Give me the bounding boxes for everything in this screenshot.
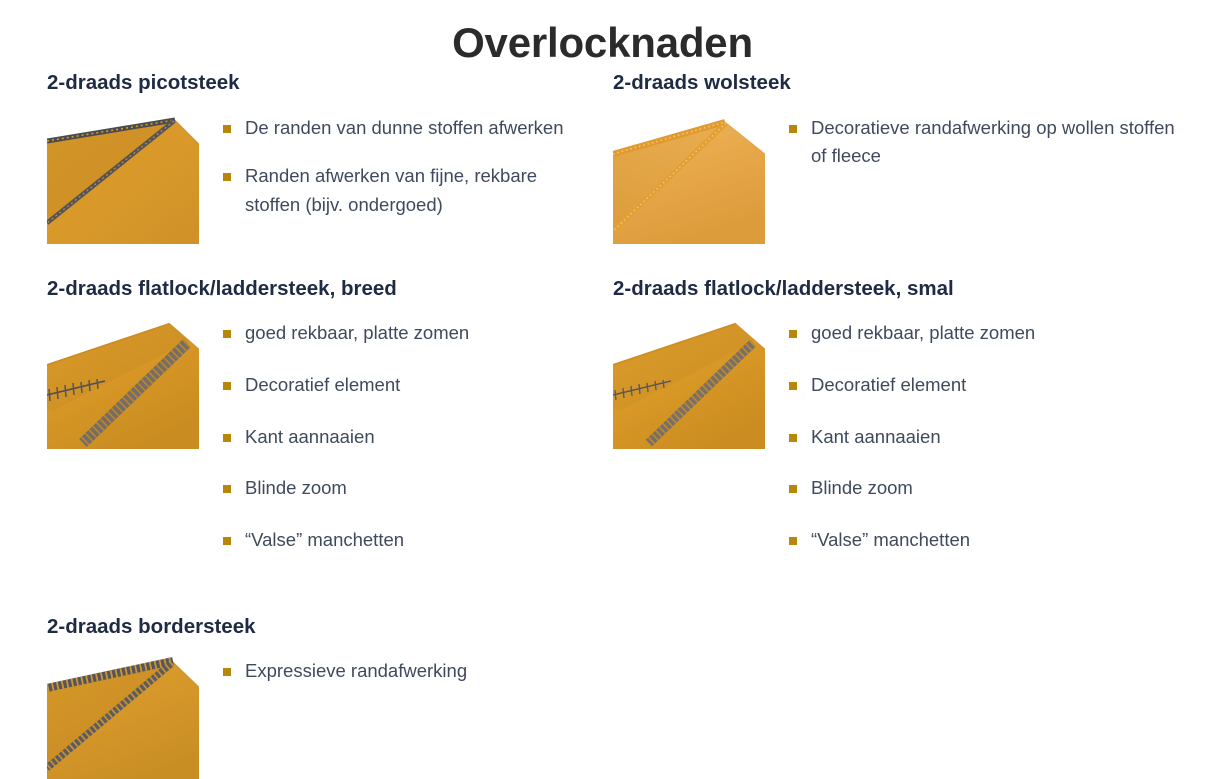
section-body: De randen van dunne stoffen afwerken Ran… xyxy=(47,114,588,244)
list-item: Blinde zoom xyxy=(223,474,588,503)
list-item: Blinde zoom xyxy=(789,474,1190,503)
flatlock-wide-sample-image xyxy=(47,319,199,449)
flatlock-narrow-sample-image xyxy=(613,319,765,449)
section-heading: 2-draads flatlock/laddersteek, smal xyxy=(613,276,1190,302)
section-empty-slot xyxy=(602,614,1204,779)
list-item: Expressieve randafwerking xyxy=(223,657,588,686)
bullet-list: Decoratieve randafwerking op wollen stof… xyxy=(765,114,1190,171)
section-heading: 2-draads picotsteek xyxy=(47,70,588,96)
section-heading: 2-draads wolsteek xyxy=(613,70,1190,96)
section-wolsteek: 2-draads wolsteek xyxy=(602,70,1204,276)
list-item: Randen afwerken van fijne, rekbare stoff… xyxy=(223,162,588,219)
list-item: Decoratief element xyxy=(223,371,588,400)
section-body: Expressieve randafwerking xyxy=(47,657,588,779)
list-item: “Valse” manchetten xyxy=(789,526,1190,555)
section-body: Decoratieve randafwerking op wollen stof… xyxy=(613,114,1190,244)
list-item: Decoratieve randafwerking op wollen stof… xyxy=(789,114,1190,171)
document-page: Overlocknaden 2-draads picotsteek xyxy=(0,0,1205,779)
section-body: goed rekbaar, platte zomen Decoratief el… xyxy=(47,319,588,577)
list-item: goed rekbaar, platte zomen xyxy=(789,319,1190,348)
section-body: goed rekbaar, platte zomen Decoratief el… xyxy=(613,319,1190,577)
bullet-list: Expressieve randafwerking xyxy=(199,657,588,686)
list-item: “Valse” manchetten xyxy=(223,526,588,555)
bullet-list: goed rekbaar, platte zomen Decoratief el… xyxy=(199,319,588,577)
list-item: Decoratief element xyxy=(789,371,1190,400)
section-flatlock-breed: 2-draads flatlock/laddersteek, breed xyxy=(0,276,602,614)
section-row: 2-draads bordersteek xyxy=(0,614,1205,779)
bullet-list: goed rekbaar, platte zomen Decoratief el… xyxy=(765,319,1190,577)
list-item: De randen van dunne stoffen afwerken xyxy=(223,114,588,143)
bullet-list: De randen van dunne stoffen afwerken Ran… xyxy=(199,114,588,220)
list-item: Kant aannaaien xyxy=(789,423,1190,452)
page-title: Overlocknaden xyxy=(0,16,1205,71)
section-heading: 2-draads bordersteek xyxy=(47,614,588,640)
section-heading: 2-draads flatlock/laddersteek, breed xyxy=(47,276,588,302)
wool-stitch-sample-image xyxy=(613,114,765,244)
stitch-sections: 2-draads picotsteek xyxy=(0,70,1205,779)
section-flatlock-smal: 2-draads flatlock/laddersteek, smal xyxy=(602,276,1204,614)
section-row: 2-draads picotsteek xyxy=(0,70,1205,276)
list-item: goed rekbaar, platte zomen xyxy=(223,319,588,348)
section-picotsteek: 2-draads picotsteek xyxy=(0,70,602,276)
border-stitch-sample-image xyxy=(47,657,199,779)
list-item: Kant aannaaien xyxy=(223,423,588,452)
picot-stitch-sample-image xyxy=(47,114,199,244)
section-bordersteek: 2-draads bordersteek xyxy=(0,614,602,779)
section-row: 2-draads flatlock/laddersteek, breed xyxy=(0,276,1205,614)
